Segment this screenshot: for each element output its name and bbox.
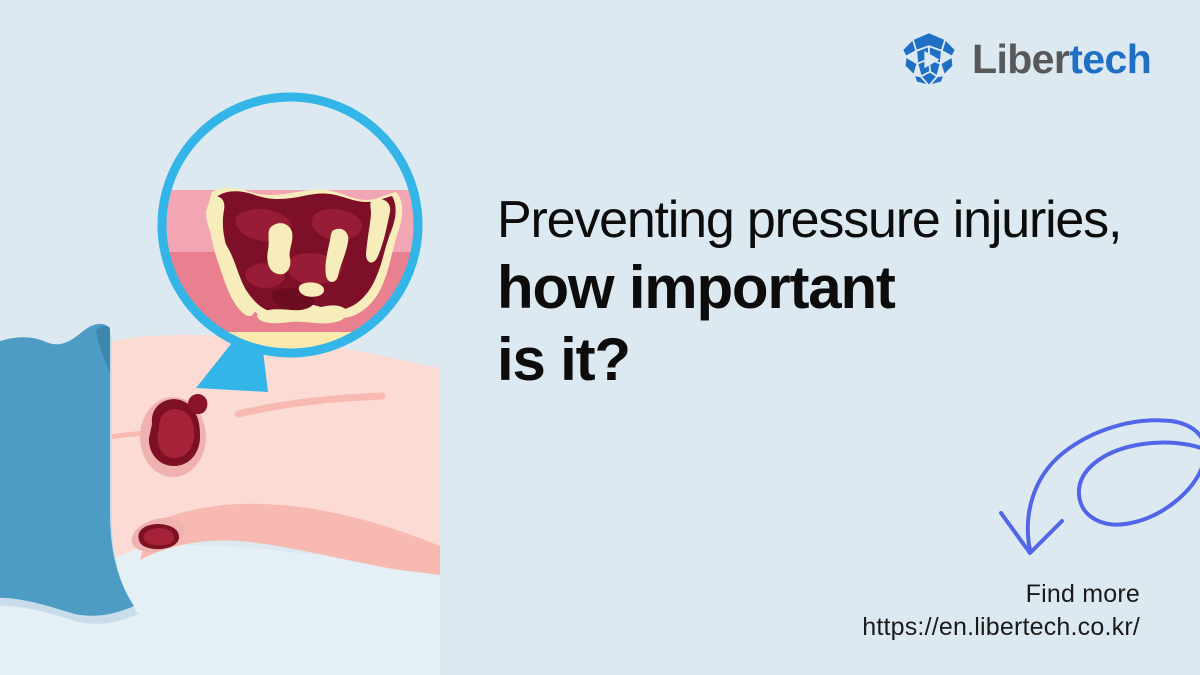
arrow-head xyxy=(1001,513,1062,553)
page-title: Preventing pressure injuries, how import… xyxy=(497,188,1157,396)
slough-deposit-1 xyxy=(267,223,292,274)
brand-name-part2: tech xyxy=(1069,36,1151,82)
headline-line-2: how important xyxy=(497,252,1157,324)
headline-line-3: is it? xyxy=(497,324,1157,396)
brand-logo[interactable]: Libertech xyxy=(900,30,1151,88)
find-more-label: Find more xyxy=(680,578,1140,610)
headline-line-1: Preventing pressure injuries, xyxy=(497,188,1157,252)
sore-inner xyxy=(158,409,194,458)
website-url[interactable]: https://en.libertech.co.kr/ xyxy=(680,610,1140,644)
faceted-polyhedron-icon xyxy=(900,30,958,88)
brand-name-part1: Liber xyxy=(972,36,1069,82)
pressure-injury-illustration xyxy=(0,0,440,675)
patient-body-group xyxy=(92,335,440,575)
brand-wordmark: Libertech xyxy=(972,39,1151,80)
footer-cta: Find more https://en.libertech.co.kr/ xyxy=(680,578,1140,644)
curly-loop-arrow-icon xyxy=(985,395,1200,570)
poster-canvas: Libertech Preventing pressure injuries, … xyxy=(0,0,1200,675)
